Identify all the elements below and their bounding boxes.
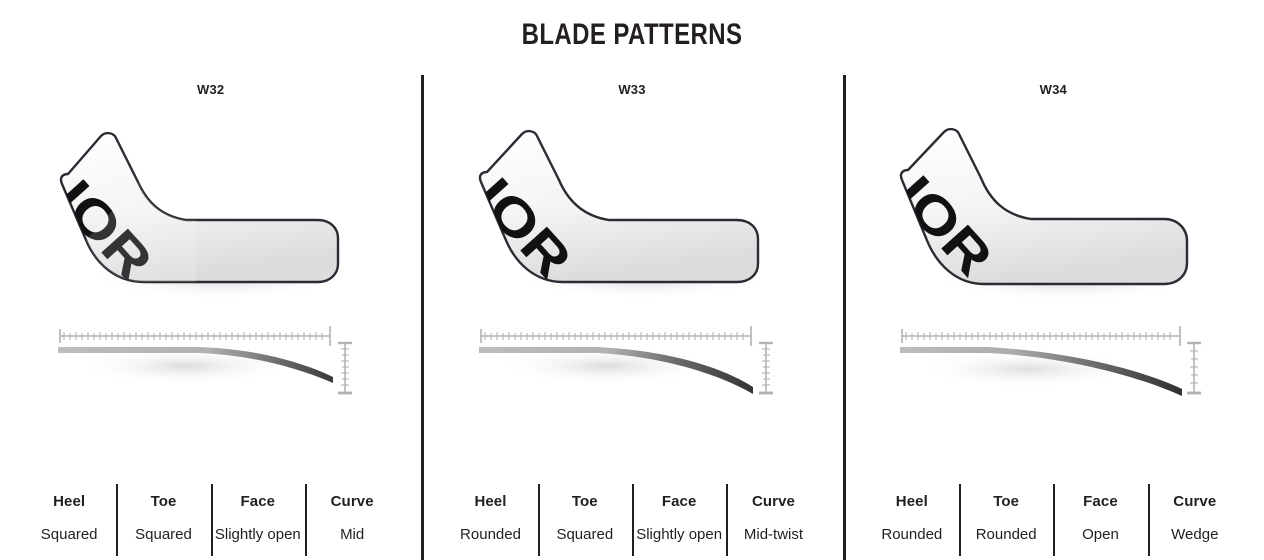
spec-header-toe: Toe — [572, 493, 598, 510]
spec-cell-curve: Curve Mid-twist — [726, 480, 820, 556]
spec-header-face: Face — [662, 493, 697, 510]
spec-header-heel: Heel — [474, 493, 506, 510]
spec-cell-heel: Heel Squared — [22, 480, 116, 556]
spec-value-face: Open — [1082, 526, 1119, 545]
curve-diagram-w32 — [46, 321, 376, 406]
spec-value-toe: Rounded — [976, 526, 1037, 545]
curve-diagram-w34 — [888, 321, 1218, 406]
spec-header-face: Face — [1083, 493, 1118, 510]
spec-header-toe: Toe — [993, 493, 1019, 510]
spec-table-w33: Heel Rounded Toe Squared Face Slightly o… — [421, 480, 842, 560]
spec-header-heel: Heel — [53, 493, 85, 510]
spec-value-heel: Rounded — [881, 526, 942, 545]
spec-header-heel: Heel — [896, 493, 928, 510]
curve-diagram-w33 — [467, 321, 797, 406]
page-title: BLADE PATTERNS — [126, 0, 1137, 50]
pattern-name: W34 — [1040, 82, 1067, 102]
spec-cell-toe: Toe Rounded — [959, 480, 1053, 556]
pattern-column-w32[interactable]: W32 — [0, 75, 421, 560]
spec-value-toe: Squared — [135, 526, 192, 545]
spec-cell-heel: Heel Rounded — [865, 480, 959, 556]
spec-cell-toe: Toe Squared — [116, 480, 210, 556]
spec-value-toe: Squared — [556, 526, 613, 545]
blade-profile-illustration-w32: IOR — [46, 124, 376, 309]
spec-header-curve: Curve — [331, 493, 374, 510]
pattern-column-w34[interactable]: W34 — [843, 75, 1264, 560]
spec-value-face: Slightly open — [215, 526, 301, 545]
spec-value-curve: Wedge — [1171, 526, 1218, 545]
blade-profile-illustration-w33: IOR — [467, 124, 797, 309]
pattern-column-w33[interactable]: W33 — [421, 75, 842, 560]
vertical-depth-scale — [338, 343, 352, 393]
spec-value-curve: Mid-twist — [744, 526, 803, 545]
horizontal-ruler-scale — [902, 326, 1180, 346]
spec-cell-curve: Curve Mid — [305, 480, 399, 556]
spec-cell-heel: Heel Rounded — [443, 480, 537, 556]
spec-table-w32: Heel Squared Toe Squared Face Slightly o… — [0, 480, 421, 560]
spec-header-curve: Curve — [752, 493, 795, 510]
spec-cell-curve: Curve Wedge — [1148, 480, 1242, 556]
spec-value-heel: Squared — [41, 526, 98, 545]
spec-table-w34: Heel Rounded Toe Rounded Face Open Curve… — [843, 480, 1264, 560]
spec-cell-face: Face Slightly open — [211, 480, 305, 556]
blade-profile-illustration-w34: IOR — [888, 124, 1218, 309]
vertical-depth-scale — [1187, 343, 1201, 393]
spec-header-face: Face — [241, 493, 276, 510]
vertical-depth-scale — [759, 343, 773, 393]
spec-value-heel: Rounded — [460, 526, 521, 545]
spec-cell-face: Face Open — [1053, 480, 1147, 556]
spec-header-curve: Curve — [1173, 493, 1216, 510]
spec-header-toe: Toe — [151, 493, 177, 510]
spec-value-curve: Mid — [340, 526, 364, 545]
pattern-columns: W32 — [0, 75, 1264, 560]
pattern-name: W32 — [197, 82, 224, 102]
spec-cell-toe: Toe Squared — [538, 480, 632, 556]
spec-cell-face: Face Slightly open — [632, 480, 726, 556]
pattern-name: W33 — [618, 82, 645, 102]
spec-value-face: Slightly open — [636, 526, 722, 545]
